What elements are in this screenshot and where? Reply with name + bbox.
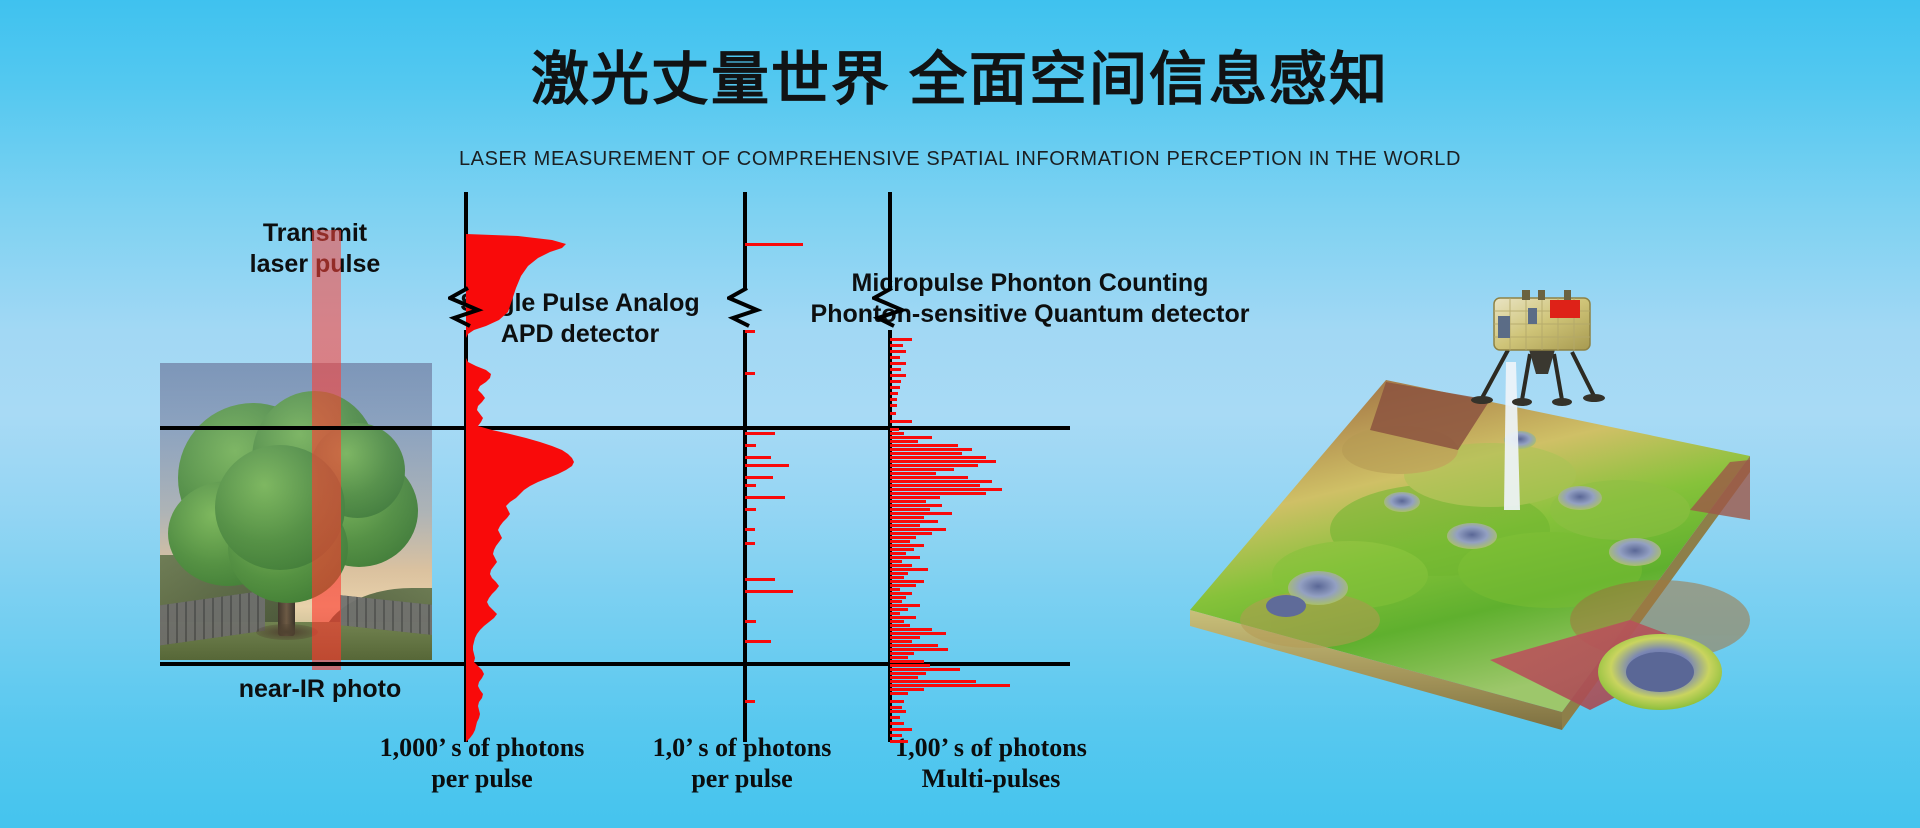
histogram-bar — [745, 508, 756, 511]
histogram-bar — [890, 560, 902, 563]
histogram-bar — [890, 536, 916, 539]
histogram-bar — [890, 640, 912, 643]
histogram-bar — [890, 504, 942, 507]
histogram-bar — [890, 628, 932, 631]
histogram-bar — [890, 556, 920, 559]
histogram-bar — [890, 432, 904, 435]
histogram-bar — [890, 620, 904, 623]
histogram-bar — [745, 700, 755, 703]
histogram-bar — [890, 588, 900, 591]
axis-break-symbol — [727, 286, 767, 328]
histogram-bar — [745, 432, 775, 435]
histogram-bar — [890, 648, 948, 651]
lander-instrument — [1528, 308, 1537, 324]
histogram-bar — [890, 428, 899, 431]
histogram-bar — [890, 444, 958, 447]
histogram-bar — [890, 500, 926, 503]
histogram-bar — [890, 608, 908, 611]
histogram-bar — [890, 604, 920, 607]
near-ir-photo — [160, 363, 432, 660]
analog-waveform — [466, 192, 616, 742]
histogram-bar — [890, 338, 912, 341]
histogram-bar — [890, 520, 938, 523]
histogram-bar — [745, 476, 773, 479]
terrain-crater — [1609, 538, 1661, 566]
histogram-bar — [890, 356, 900, 359]
histogram-bar — [890, 710, 906, 713]
histogram-bar — [890, 624, 910, 627]
histogram-bar — [890, 612, 900, 615]
histogram-bar — [890, 652, 914, 655]
histogram-bar — [745, 620, 756, 623]
histogram-bar — [890, 580, 924, 583]
histogram-bar — [890, 672, 926, 675]
histogram-bar — [890, 656, 908, 659]
histogram-bar — [890, 664, 930, 667]
histogram-bar — [890, 676, 918, 679]
page-title: 激光丈量世界 全面空间信息感知 — [0, 48, 1920, 112]
histogram-bar — [890, 584, 916, 587]
histogram-bar — [890, 552, 906, 555]
axis-break-symbol — [872, 286, 912, 328]
histogram-bar — [890, 464, 978, 467]
histogram-bar — [890, 350, 906, 353]
chart-single-pulse-analog — [464, 192, 784, 752]
chart-axis-lower — [743, 330, 747, 742]
histogram-bar — [890, 404, 897, 407]
histogram-bar — [745, 542, 755, 545]
histogram-bar — [890, 592, 912, 595]
histogram-bar — [745, 590, 793, 593]
histogram-bar — [745, 456, 771, 459]
lander-foot — [1512, 398, 1532, 406]
histogram-bar — [890, 516, 924, 519]
histogram-bar — [890, 392, 898, 395]
histogram-bar — [890, 436, 932, 439]
histogram-bar — [890, 528, 946, 531]
histogram-bar — [890, 576, 904, 579]
histogram-bar — [890, 644, 938, 647]
lander-foot — [1583, 394, 1605, 402]
histogram-bar — [890, 472, 936, 475]
histogram-bar — [890, 688, 924, 691]
terrain-crater — [1266, 595, 1306, 617]
histogram-bar — [745, 464, 789, 467]
chart-micropulse-histogram — [888, 192, 1208, 752]
histogram-bar — [890, 468, 954, 471]
histogram-bar — [745, 496, 785, 499]
histogram-bar — [890, 344, 903, 347]
histogram-bar — [890, 716, 900, 719]
histogram-bar — [890, 596, 906, 599]
histogram-bar — [890, 706, 902, 709]
histogram-bar — [890, 476, 968, 479]
histogram-bar — [745, 484, 756, 487]
histogram-bar — [890, 456, 986, 459]
histogram-bar — [890, 740, 908, 743]
histogram-bar — [890, 362, 906, 365]
histogram-bar — [745, 330, 755, 333]
histogram-bar — [890, 420, 912, 423]
histogram-bar — [890, 632, 946, 635]
lander-foot — [1471, 396, 1493, 404]
histogram-bar — [890, 492, 986, 495]
histogram-bar — [890, 512, 952, 515]
histogram-bar — [745, 243, 803, 246]
china-flag — [1550, 300, 1580, 318]
histogram-bar — [890, 568, 928, 571]
terrain-crater — [1384, 492, 1420, 512]
histogram-bar — [890, 508, 930, 511]
histogram-bar — [890, 722, 904, 725]
histogram-bar — [890, 368, 901, 371]
page-subtitle: LASER MEASUREMENT OF COMPREHENSIVE SPATI… — [0, 148, 1920, 171]
histogram-bar — [890, 488, 1002, 491]
chart-axis-upper — [743, 192, 747, 290]
histogram-bar — [890, 398, 897, 401]
histogram-bar — [890, 734, 902, 737]
histogram-bar — [890, 616, 916, 619]
histogram-bar — [890, 728, 912, 731]
histogram-bar — [890, 572, 908, 575]
photo-canvas — [160, 363, 432, 660]
histogram-bar — [890, 412, 896, 415]
lander-antenna — [1522, 290, 1530, 300]
histogram-bar — [890, 548, 914, 551]
axis-break-symbol — [448, 286, 488, 328]
laser-beam — [312, 230, 341, 670]
histogram-bar — [890, 668, 960, 671]
histogram-bar — [890, 660, 924, 663]
histogram-bar — [890, 460, 996, 463]
lidar-terrain-model — [1190, 320, 1750, 740]
histogram-bar — [890, 544, 924, 547]
histogram-bar — [890, 540, 910, 543]
histogram-bar — [890, 496, 940, 499]
histogram-bar — [890, 680, 976, 683]
histogram-bar — [890, 532, 932, 535]
histogram-bar — [890, 448, 972, 451]
histogram-bar — [745, 640, 771, 643]
histogram-bar — [890, 600, 902, 603]
histogram-bar — [745, 444, 756, 447]
histogram-bar — [745, 528, 755, 531]
histogram-bar — [890, 484, 980, 487]
histogram-bar — [890, 636, 920, 639]
histogram-bar — [890, 564, 912, 567]
histogram-bar — [890, 452, 962, 455]
lander-antenna — [1538, 290, 1545, 300]
histogram-bar — [890, 386, 900, 389]
histogram-bar — [890, 440, 918, 443]
histogram-bar — [890, 684, 1010, 687]
histogram-bar — [890, 480, 992, 483]
histogram-bar — [890, 374, 906, 377]
histogram-bar — [890, 692, 908, 695]
histogram-bar — [890, 380, 901, 383]
histogram-bar — [890, 700, 904, 703]
lander-antenna — [1564, 290, 1571, 300]
lunar-lander — [1468, 290, 1618, 420]
histogram-bar — [890, 524, 920, 527]
terrain-crater — [1558, 486, 1602, 510]
lander-foot — [1552, 398, 1572, 406]
chart-axis-upper — [888, 192, 892, 290]
banner-root: 激光丈量世界 全面空间信息感知 LASER MEASUREMENT OF COM… — [0, 0, 1920, 828]
terrain-crater — [1447, 523, 1497, 549]
lander-instrument — [1498, 316, 1510, 338]
histogram-bar — [745, 578, 775, 581]
terrain-crater-large-floor — [1626, 652, 1694, 692]
label-near-ir-photo: near-IR photo — [190, 674, 450, 705]
histogram-bar — [745, 372, 755, 375]
